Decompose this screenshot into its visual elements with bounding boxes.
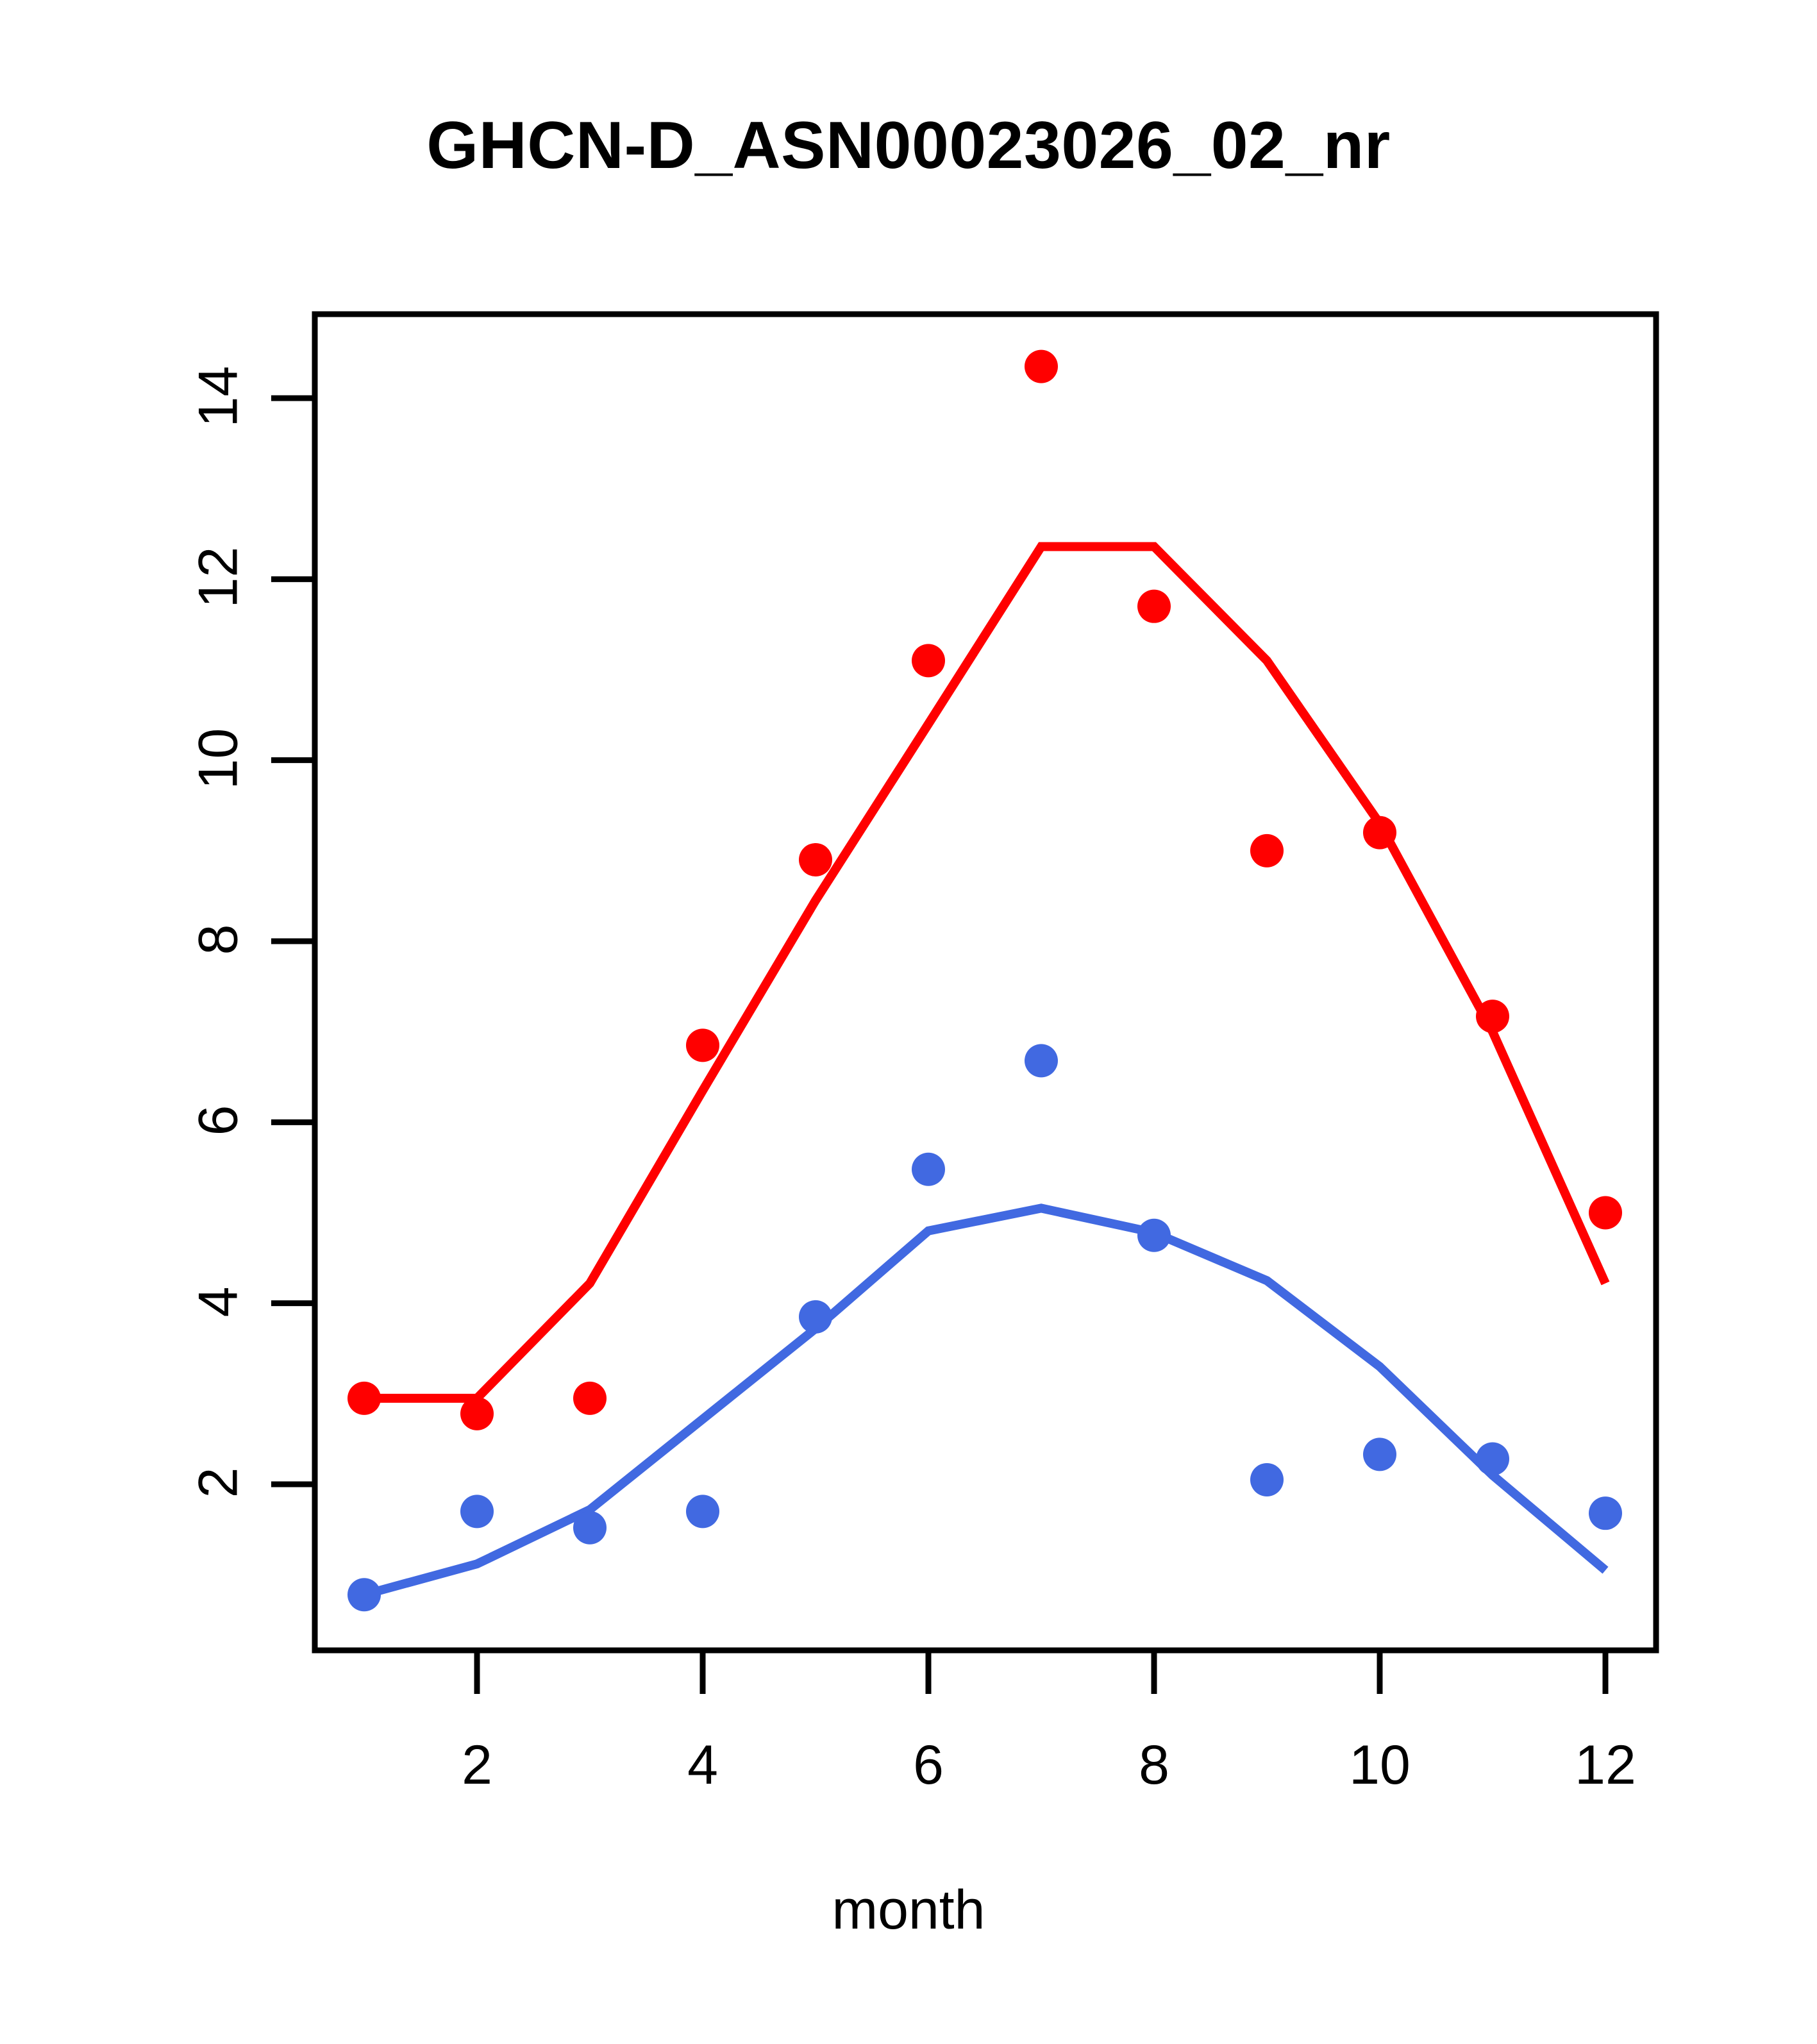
- red-points-marker: [1476, 1000, 1509, 1033]
- blue-points-marker: [1025, 1044, 1058, 1077]
- blue-points-marker: [912, 1153, 945, 1186]
- red-points-marker: [573, 1382, 607, 1415]
- red-points-marker: [347, 1382, 381, 1415]
- x-axis-ticks: [477, 1650, 1605, 1694]
- plot-area: 2468101214 24681012: [0, 0, 1817, 2044]
- red-line: [364, 547, 1605, 1398]
- blue-points-marker: [573, 1511, 607, 1545]
- y-tick-label: 2: [187, 1432, 251, 1534]
- x-axis-title: month: [0, 1879, 1817, 1942]
- series-points: [347, 350, 1622, 1612]
- blue-points-marker: [1250, 1463, 1284, 1496]
- blue-points-marker: [1137, 1219, 1171, 1252]
- x-tick-label: 4: [632, 1734, 773, 1797]
- red-points-marker: [1363, 816, 1396, 850]
- blue-points-marker: [799, 1300, 832, 1334]
- blue-points-marker: [1363, 1437, 1396, 1471]
- x-tick-label: 2: [406, 1734, 548, 1797]
- red-points-marker: [799, 843, 832, 876]
- axis-box: [315, 314, 1656, 1650]
- blue-line: [364, 1208, 1605, 1595]
- y-tick-label: 10: [187, 707, 251, 810]
- x-tick-label: 12: [1535, 1734, 1676, 1797]
- red-points-marker: [686, 1028, 719, 1062]
- red-points-marker: [1025, 350, 1058, 383]
- y-tick-label: 8: [187, 889, 251, 991]
- y-tick-label: 14: [187, 346, 251, 448]
- red-points-marker: [912, 644, 945, 677]
- x-tick-label: 6: [858, 1734, 999, 1797]
- x-tick-label: 8: [1084, 1734, 1225, 1797]
- y-axis-ticks: [271, 398, 315, 1484]
- blue-points-marker: [1589, 1496, 1622, 1530]
- y-tick-label: 6: [187, 1069, 251, 1172]
- red-points-marker: [1137, 590, 1171, 623]
- red-points-marker: [460, 1397, 494, 1430]
- chart-page: GHCN-D_ASN00023026_02_nr 2468101214 2468…: [0, 0, 1817, 2044]
- red-points-marker: [1589, 1196, 1622, 1230]
- blue-points-marker: [347, 1578, 381, 1611]
- blue-points-marker: [1476, 1442, 1509, 1475]
- red-points-marker: [1250, 834, 1284, 867]
- series-lines: [364, 547, 1605, 1595]
- blue-points-marker: [460, 1495, 494, 1528]
- y-tick-label: 12: [187, 526, 251, 629]
- x-tick-label: 10: [1309, 1734, 1450, 1797]
- blue-points-marker: [686, 1495, 719, 1528]
- y-tick-label: 4: [187, 1250, 251, 1353]
